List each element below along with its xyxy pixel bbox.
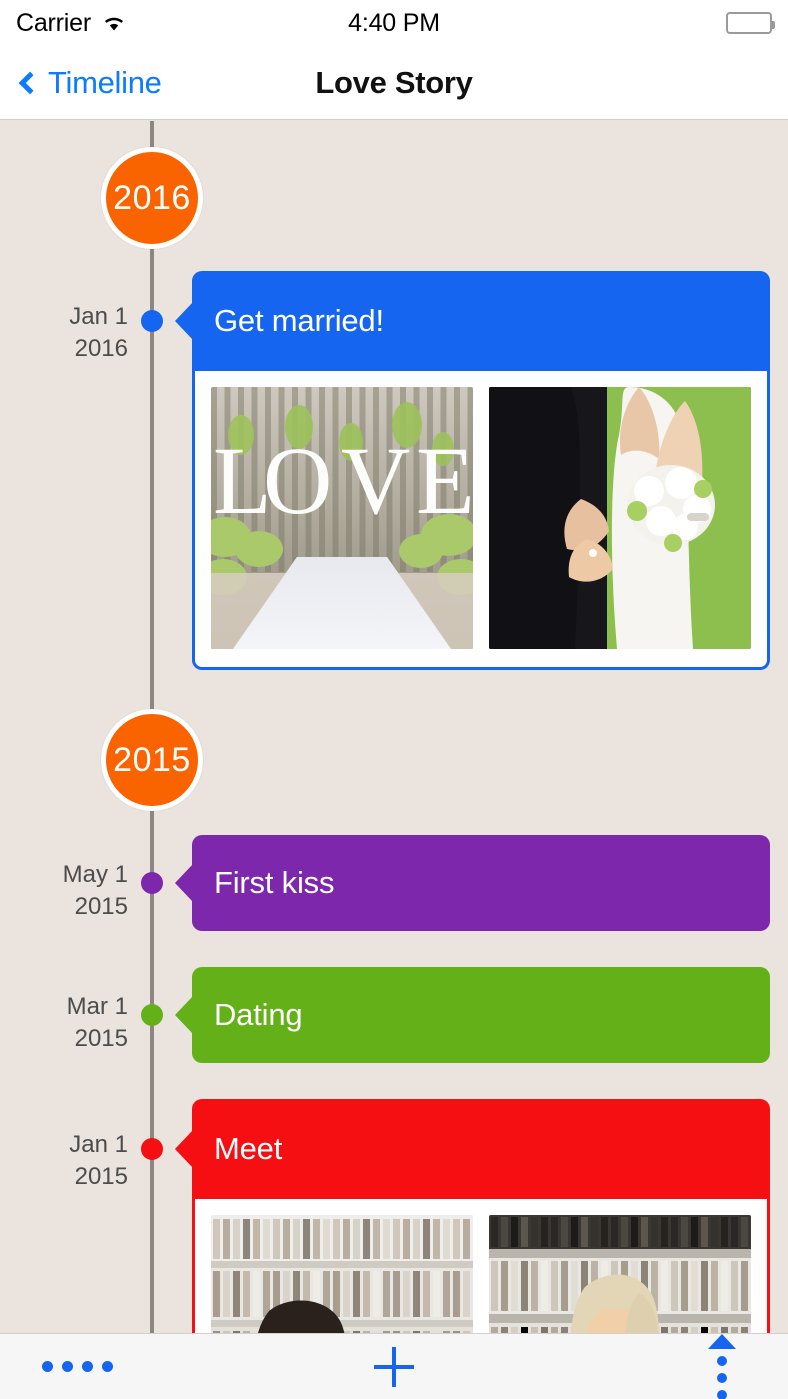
back-button[interactable]: Timeline bbox=[0, 65, 162, 101]
event-card[interactable]: Meet bbox=[192, 1099, 770, 1333]
status-bar-left: Carrier bbox=[0, 9, 260, 38]
event-date-year: 2015 bbox=[0, 1161, 128, 1193]
event-dot-marker[interactable] bbox=[141, 872, 163, 894]
bottom-toolbar bbox=[0, 1333, 788, 1399]
year-marker-label: 2016 bbox=[113, 179, 191, 218]
event-card-header[interactable]: First kiss bbox=[192, 835, 770, 931]
toolbar-right-slot bbox=[528, 1334, 788, 1399]
event-photo-gallery[interactable]: LOVE bbox=[192, 371, 770, 670]
woman-glasses-library-photo[interactable] bbox=[489, 1215, 751, 1333]
event-date-year: 2015 bbox=[0, 1023, 128, 1055]
event-date-day: Jan 1 bbox=[0, 1129, 128, 1161]
toolbar-left-slot bbox=[0, 1361, 260, 1372]
man-in-library-photo[interactable] bbox=[211, 1215, 473, 1333]
event-title: First kiss bbox=[214, 865, 334, 901]
arrow-up-dots-icon[interactable] bbox=[708, 1334, 736, 1399]
event-dot-marker[interactable] bbox=[141, 1138, 163, 1160]
year-marker-2016[interactable]: 2016 bbox=[101, 147, 203, 249]
event-date-day: Mar 1 bbox=[0, 991, 128, 1023]
event-date-day: May 1 bbox=[0, 859, 128, 891]
clock-label: 4:40 PM bbox=[348, 9, 440, 37]
timeline-scroll-area[interactable]: 2016 2015 Jan 1 2016 Get married! bbox=[0, 121, 788, 1333]
event-date-label: Mar 1 2015 bbox=[0, 991, 128, 1054]
event-dot-marker[interactable] bbox=[141, 1004, 163, 1026]
event-title: Meet bbox=[214, 1131, 282, 1167]
wedding-aisle-love-sign-photo[interactable]: LOVE bbox=[211, 387, 473, 649]
back-button-label: Timeline bbox=[48, 65, 162, 101]
event-card[interactable]: Dating bbox=[192, 967, 770, 1063]
status-bar-right bbox=[528, 12, 788, 34]
event-date-year: 2015 bbox=[0, 891, 128, 923]
year-marker-label: 2015 bbox=[113, 741, 191, 780]
chevron-left-icon bbox=[19, 71, 42, 94]
event-title: Dating bbox=[214, 997, 302, 1033]
event-date-day: Jan 1 bbox=[0, 301, 128, 333]
event-card-header[interactable]: Get married! bbox=[192, 271, 770, 371]
event-date-year: 2016 bbox=[0, 333, 128, 365]
event-photo-gallery[interactable] bbox=[192, 1199, 770, 1333]
app-screen: Carrier 4:40 PM Timeline Love Story 2016… bbox=[0, 0, 788, 1399]
event-date-label: May 1 2015 bbox=[0, 859, 128, 922]
event-date-label: Jan 1 2016 bbox=[0, 301, 128, 364]
event-card-header[interactable]: Meet bbox=[192, 1099, 770, 1199]
svg-text:V: V bbox=[341, 427, 410, 534]
event-card[interactable]: First kiss bbox=[192, 835, 770, 931]
plus-icon[interactable] bbox=[372, 1345, 416, 1389]
bride-groom-bouquet-photo[interactable] bbox=[489, 387, 751, 649]
event-card[interactable]: Get married! LOVE bbox=[192, 271, 770, 670]
event-title: Get married! bbox=[214, 303, 384, 339]
navigation-bar: Timeline Love Story bbox=[0, 46, 788, 120]
toolbar-center-slot bbox=[260, 1345, 528, 1389]
wifi-icon bbox=[101, 13, 127, 33]
carrier-label: Carrier bbox=[16, 9, 91, 38]
svg-text:O: O bbox=[263, 427, 332, 534]
battery-full-icon bbox=[726, 12, 772, 34]
event-card-header[interactable]: Dating bbox=[192, 967, 770, 1063]
year-marker-2015[interactable]: 2015 bbox=[101, 709, 203, 811]
status-bar-center: 4:40 PM bbox=[260, 9, 528, 38]
event-date-label: Jan 1 2015 bbox=[0, 1129, 128, 1192]
event-dot-marker[interactable] bbox=[141, 310, 163, 332]
four-dots-icon[interactable] bbox=[42, 1361, 113, 1372]
status-bar: Carrier 4:40 PM bbox=[0, 0, 788, 46]
